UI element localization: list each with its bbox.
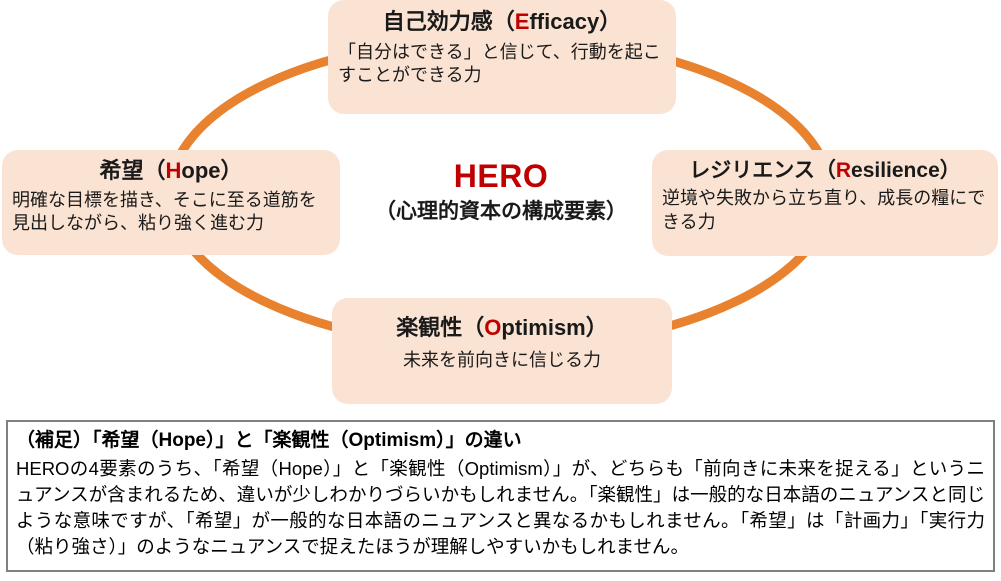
hero-diagram: 自己効力感（Efficacy） 「自分はできる」と信じて、行動を起こすことができ… [0, 0, 1001, 412]
node-hope-description: 明確な目標を描き、そこに至る道筋を見出しながら、粘り強く進む力 [12, 189, 330, 237]
node-resilience-description: 逆境や失敗から立ち直り、成長の糧にできる力 [662, 187, 988, 235]
center-label: HERO （心理的資本の構成要素） [356, 158, 646, 224]
note-body: HEROの4要素のうち、「希望（Hope）」と「楽観性（Optimism）」が、… [16, 456, 985, 561]
node-optimism-title: 楽観性（Optimism） [342, 314, 662, 343]
node-resilience[interactable]: レジリエンス（Resilience） 逆境や失敗から立ち直り、成長の糧にできる力 [652, 150, 998, 256]
node-optimism-description: 未来を前向きに信じる力 [342, 349, 662, 373]
node-efficacy[interactable]: 自己効力感（Efficacy） 「自分はできる」と信じて、行動を起こすことができ… [328, 0, 676, 114]
node-resilience-title: レジリエンス（Resilience） [662, 157, 988, 184]
node-efficacy-title: 自己効力感（Efficacy） [338, 8, 666, 37]
node-hope-title: 希望（Hope） [12, 157, 330, 186]
note-box: （補足）「希望（Hope）」と「楽観性（Optimism）」の違い HEROの4… [6, 420, 995, 572]
node-optimism[interactable]: 楽観性（Optimism） 未来を前向きに信じる力 [332, 298, 672, 404]
center-subtitle: （心理的資本の構成要素） [356, 199, 646, 224]
note-title: （補足）「希望（Hope）」と「楽観性（Optimism）」の違い [16, 428, 985, 454]
node-efficacy-description: 「自分はできる」と信じて、行動を起こすことができる力 [338, 41, 666, 89]
center-title: HERO [356, 158, 646, 195]
node-hope[interactable]: 希望（Hope） 明確な目標を描き、そこに至る道筋を見出しながら、粘り強く進む力 [2, 150, 340, 255]
